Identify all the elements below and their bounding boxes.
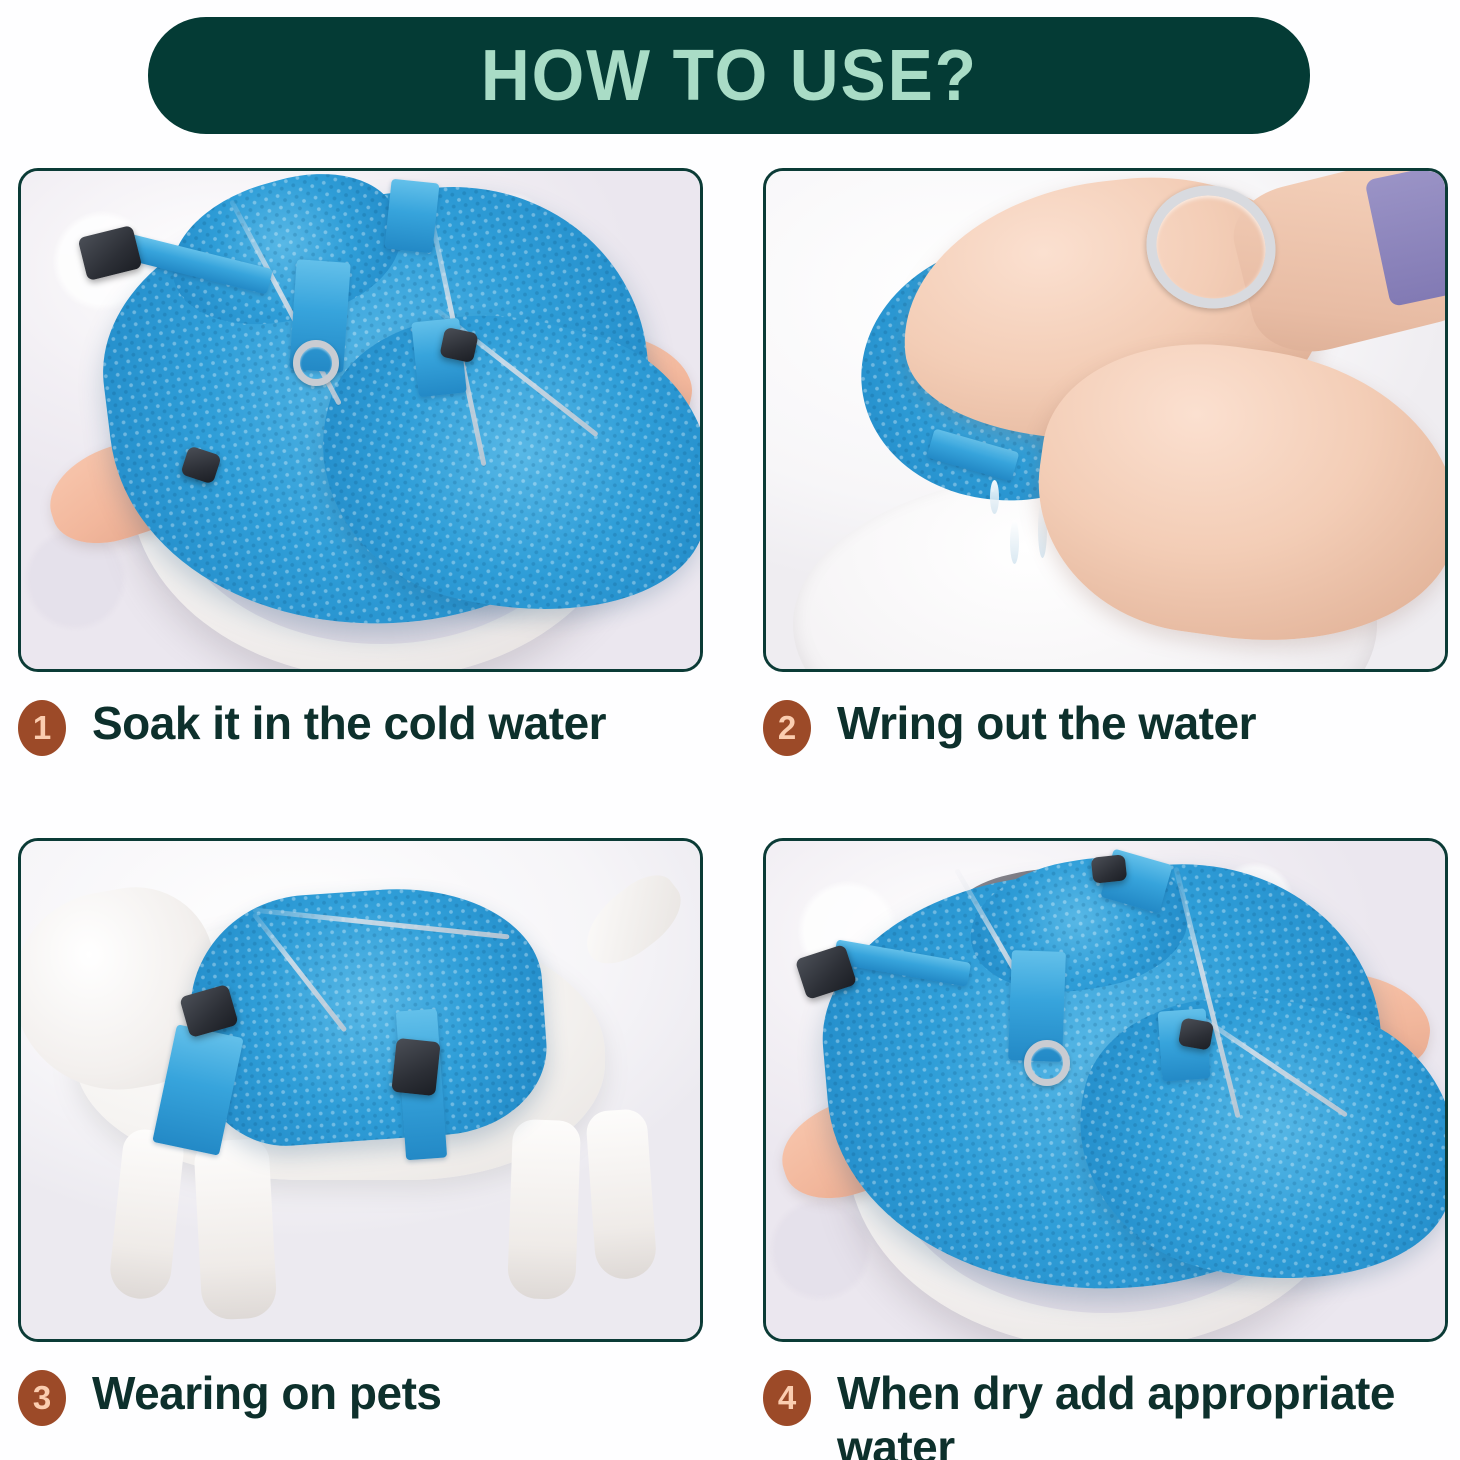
step-photo-3 — [18, 838, 703, 1342]
harness-buckle — [392, 1038, 441, 1096]
step-caption-text: Wring out the water — [837, 696, 1256, 750]
step-caption-text: Wearing on pets — [92, 1366, 441, 1420]
step-caption-1: 1 Soak it in the cold water — [18, 696, 703, 756]
step-caption-4: 4 When dry add appropriate water — [763, 1366, 1448, 1460]
harness-buckle — [1091, 854, 1128, 883]
step-photo-1 — [18, 168, 703, 672]
scene-dog-wearing — [21, 841, 700, 1339]
step-photo-2 — [763, 168, 1448, 672]
step-number-badge: 1 — [18, 700, 66, 756]
step-card-4: 4 When dry add appropriate water — [763, 838, 1448, 1460]
steps-grid: 1 Soak it in the cold water — [0, 168, 1460, 1460]
scene-soak-basin — [21, 171, 700, 669]
step-card-1: 1 Soak it in the cold water — [18, 168, 703, 756]
dog-leg — [586, 1108, 659, 1281]
dog-leg — [193, 1138, 277, 1321]
dog-leg — [507, 1119, 581, 1301]
infographic-page: HOW TO USE? — [0, 0, 1460, 1460]
step-caption-text: Soak it in the cold water — [92, 696, 606, 750]
step-number-badge: 2 — [763, 700, 811, 756]
step-number-badge: 3 — [18, 1370, 66, 1426]
step-card-2: 2 Wring out the water — [763, 168, 1448, 756]
harness-strap — [384, 179, 439, 253]
water-drip — [990, 480, 999, 514]
step-photo-4 — [763, 838, 1448, 1342]
page-title-banner: HOW TO USE? — [148, 17, 1310, 134]
scene-wring-hands — [766, 171, 1445, 669]
step-caption-text: When dry add appropriate water — [837, 1366, 1437, 1460]
harness-d-ring — [1024, 1040, 1070, 1086]
page-title: HOW TO USE? — [481, 40, 978, 112]
step-card-3: 3 Wearing on pets — [18, 838, 703, 1426]
harness-buckle — [1178, 1018, 1214, 1051]
steps-row-2: 3 Wearing on pets — [0, 838, 1460, 1460]
step-caption-2: 2 Wring out the water — [763, 696, 1448, 756]
scene-add-water-basin — [766, 841, 1445, 1339]
steps-row-1: 1 Soak it in the cold water — [0, 168, 1460, 838]
step-number-badge: 4 — [763, 1370, 811, 1426]
step-caption-3: 3 Wearing on pets — [18, 1366, 703, 1426]
harness-d-ring — [293, 340, 339, 386]
